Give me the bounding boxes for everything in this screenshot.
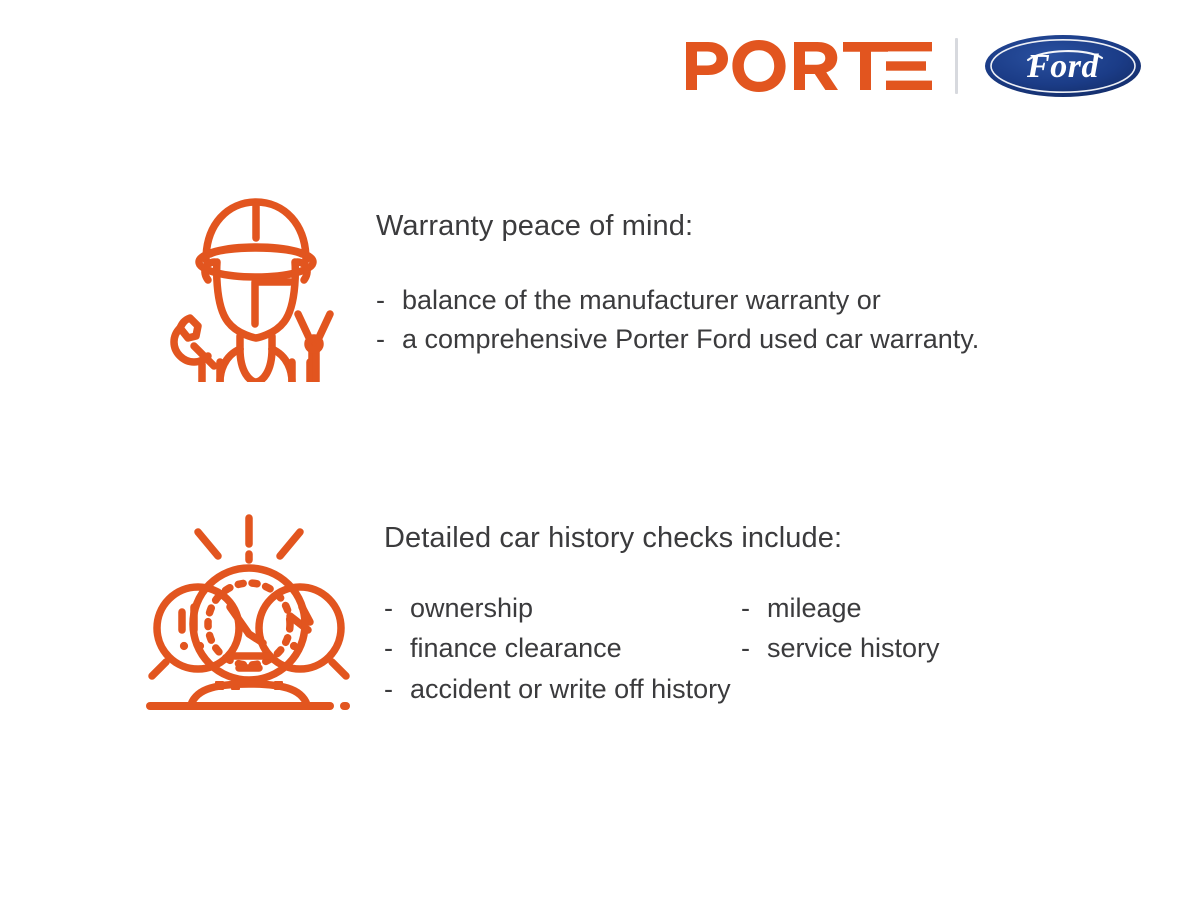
warranty-bullet-list: - balance of the manufacturer warranty o… [376, 281, 979, 359]
bullet-dash: - [384, 629, 410, 667]
history-heading: Detailed car history checks include: [384, 522, 940, 555]
bullet-dash: - [384, 589, 410, 627]
brand-logo-lockup[interactable]: Ford [686, 34, 1142, 98]
history-bullet-accident-history: - accident or write off history [384, 670, 940, 708]
warranty-bullet-0-label: balance of the manufacturer warranty or [402, 281, 881, 320]
warranty-bullet-1-label: a comprehensive Porter Ford used car war… [402, 320, 979, 359]
warranty-bullet-0: - balance of the manufacturer warranty o… [376, 281, 979, 320]
warranty-text-group: Warranty peace of mind: - balance of the… [376, 186, 979, 359]
history-bullet-service-history: - service history [741, 629, 940, 667]
history-text-group: Detailed car history checks include: - o… [384, 512, 940, 708]
history-bullet-ownership-label: ownership [410, 589, 533, 627]
history-bullet-accident-history-label: accident or write off history [410, 670, 731, 708]
bullet-dash: - [741, 629, 767, 667]
content-block-warranty: Warranty peace of mind: - balance of the… [158, 186, 979, 382]
warranty-bullet-1: - a comprehensive Porter Ford used car w… [376, 320, 979, 359]
history-bullet-grid: - ownership - mileage - finance clearanc… [384, 589, 940, 708]
bullet-dash: - [376, 281, 402, 320]
bullet-dash: - [376, 320, 402, 359]
mechanic-icon [158, 186, 354, 382]
history-bullet-finance-clearance: - finance clearance [384, 629, 741, 667]
history-bullet-mileage-label: mileage [767, 589, 862, 627]
history-bullet-mileage: - mileage [741, 589, 940, 627]
porter-wordmark [686, 40, 933, 92]
warranty-heading: Warranty peace of mind: [376, 210, 979, 243]
bullet-dash: - [741, 589, 767, 627]
dashboard-gauges-icon [142, 512, 356, 710]
logo-divider [955, 38, 958, 94]
bullet-dash: - [384, 670, 410, 708]
content-block-history: Detailed car history checks include: - o… [142, 512, 940, 710]
ford-oval-logo: Ford [984, 34, 1142, 98]
history-bullet-finance-clearance-label: finance clearance [410, 629, 622, 667]
history-bullet-service-history-label: service history [767, 629, 940, 667]
slide-root: Ford [0, 0, 1200, 900]
history-bullet-ownership: - ownership [384, 589, 741, 627]
